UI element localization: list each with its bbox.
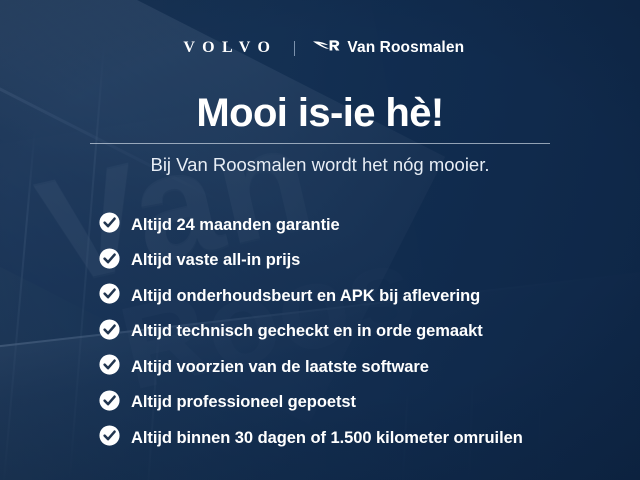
usp-label: Altijd onderhoudsbeurt en APK bij afleve… bbox=[131, 287, 480, 305]
list-item: Altijd binnen 30 dagen of 1.500 kilomete… bbox=[99, 425, 622, 451]
page-subtitle: Bij Van Roosmalen wordt het nóg mooier. bbox=[0, 153, 640, 177]
volvo-wordmark: VOLVO bbox=[176, 40, 278, 56]
list-item: Altijd onderhoudsbeurt en APK bij afleve… bbox=[99, 283, 622, 309]
usp-label: Altijd binnen 30 dagen of 1.500 kilomete… bbox=[131, 429, 523, 447]
usp-label: Altijd technisch gecheckt en in orde gem… bbox=[131, 322, 483, 340]
check-circle-icon bbox=[99, 354, 120, 380]
list-item: Altijd 24 maanden garantie bbox=[99, 212, 622, 238]
usp-list: Altijd 24 maanden garantie Altijd vaste … bbox=[99, 212, 622, 451]
banner-content: VOLVO Van Roosmalen Mooi is-ie hè! Bij V… bbox=[0, 0, 640, 480]
dealer-name: Van Roosmalen bbox=[347, 40, 464, 56]
dealer-lockup: Van Roosmalen bbox=[312, 38, 464, 58]
usp-label: Altijd vaste all-in prijs bbox=[131, 251, 300, 269]
lockup-divider bbox=[294, 41, 295, 56]
usp-label: Altijd professioneel gepoetst bbox=[131, 393, 356, 411]
volvo-van-roosmalen-banner: Van Roos VOLVO Van Roosmalen bbox=[0, 0, 640, 480]
check-circle-icon bbox=[99, 212, 120, 238]
check-circle-icon bbox=[99, 248, 120, 274]
list-item: Altijd technisch gecheckt en in orde gem… bbox=[99, 319, 622, 345]
list-item: Altijd professioneel gepoetst bbox=[99, 390, 622, 416]
van-roosmalen-swoosh-icon bbox=[312, 38, 340, 58]
brand-lockup: VOLVO Van Roosmalen bbox=[0, 38, 640, 58]
check-circle-icon bbox=[99, 390, 120, 416]
check-circle-icon bbox=[99, 425, 120, 451]
check-circle-icon bbox=[99, 283, 120, 309]
headline-divider bbox=[90, 143, 550, 144]
usp-label: Altijd voorzien van de laatste software bbox=[131, 358, 429, 376]
page-title: Mooi is-ie hè! bbox=[0, 92, 640, 134]
list-item: Altijd vaste all-in prijs bbox=[99, 248, 622, 274]
check-circle-icon bbox=[99, 319, 120, 345]
list-item: Altijd voorzien van de laatste software bbox=[99, 354, 622, 380]
usp-label: Altijd 24 maanden garantie bbox=[131, 216, 340, 234]
